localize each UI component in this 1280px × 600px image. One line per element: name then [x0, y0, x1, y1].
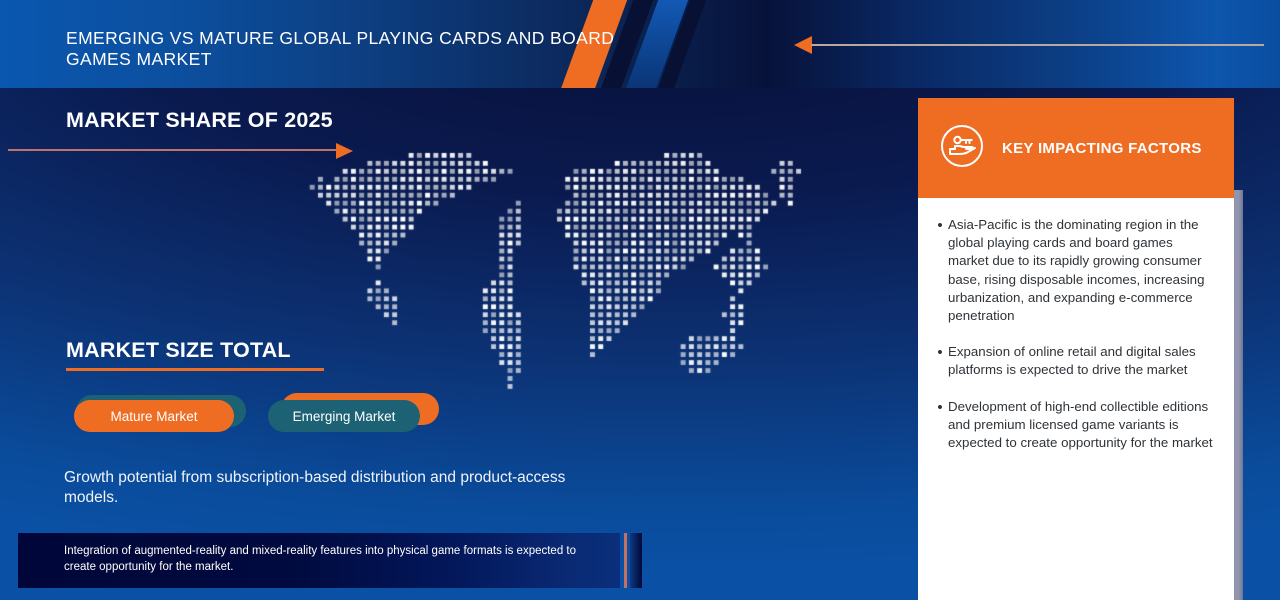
key-impacting-factors-panel: KEY IMPACTING FACTORS • Asia-Pacific is … [918, 98, 1234, 600]
bottom-banner-text: Integration of augmented-reality and mix… [64, 543, 584, 575]
market-share-heading-group: MARKET SHARE OF 2025 [0, 108, 360, 160]
market-share-heading: MARKET SHARE OF 2025 [66, 108, 333, 133]
arrow-left-icon [794, 36, 812, 54]
legend-group: Mature Market Emerging Market [66, 388, 496, 440]
legend-item-mature-market[interactable]: Mature Market [74, 400, 234, 432]
infographic-slide: EMERGING VS MATURE GLOBAL PLAYING CARDS … [0, 0, 1280, 600]
arrow-right-icon [336, 143, 353, 159]
hand-holding-key-icon [940, 124, 984, 173]
bullet-text: Expansion of online retail and digital s… [948, 343, 1214, 379]
header-arrow [794, 33, 1264, 55]
market-size-underline [66, 368, 324, 371]
page-title: EMERGING VS MATURE GLOBAL PLAYING CARDS … [66, 28, 626, 70]
panel-title: KEY IMPACTING FACTORS [1002, 140, 1202, 157]
header-arrow-line [811, 44, 1264, 46]
market-size-heading: MARKET SIZE TOTAL [66, 338, 291, 363]
list-item: • Expansion of online retail and digital… [932, 343, 1214, 379]
bullet-marker: • [932, 216, 948, 325]
list-item: • Asia-Pacific is the dominating region … [932, 216, 1214, 325]
bullet-marker: • [932, 343, 948, 379]
panel-header: KEY IMPACTING FACTORS [918, 98, 1234, 198]
world-map-dotted [285, 145, 895, 400]
bottom-banner-accent-line [624, 533, 627, 588]
header-band: EMERGING VS MATURE GLOBAL PLAYING CARDS … [0, 0, 1280, 88]
market-share-rule [8, 149, 338, 151]
panel-bullet-list: • Asia-Pacific is the dominating region … [918, 198, 1234, 600]
bottom-banner-tail [630, 533, 642, 588]
list-item: • Development of high-end collectible ed… [932, 398, 1214, 453]
legend-item-emerging-market[interactable]: Emerging Market [268, 400, 420, 432]
panel-drop-shadow [1233, 190, 1243, 600]
bullet-text: Development of high-end collectible edit… [948, 398, 1214, 453]
main-paragraph: Growth potential from subscription-based… [64, 468, 604, 508]
legend-label-emerging: Emerging Market [293, 409, 396, 424]
bullet-marker: • [932, 398, 948, 453]
bullet-text: Asia-Pacific is the dominating region in… [948, 216, 1214, 325]
legend-label-mature: Mature Market [110, 409, 197, 424]
